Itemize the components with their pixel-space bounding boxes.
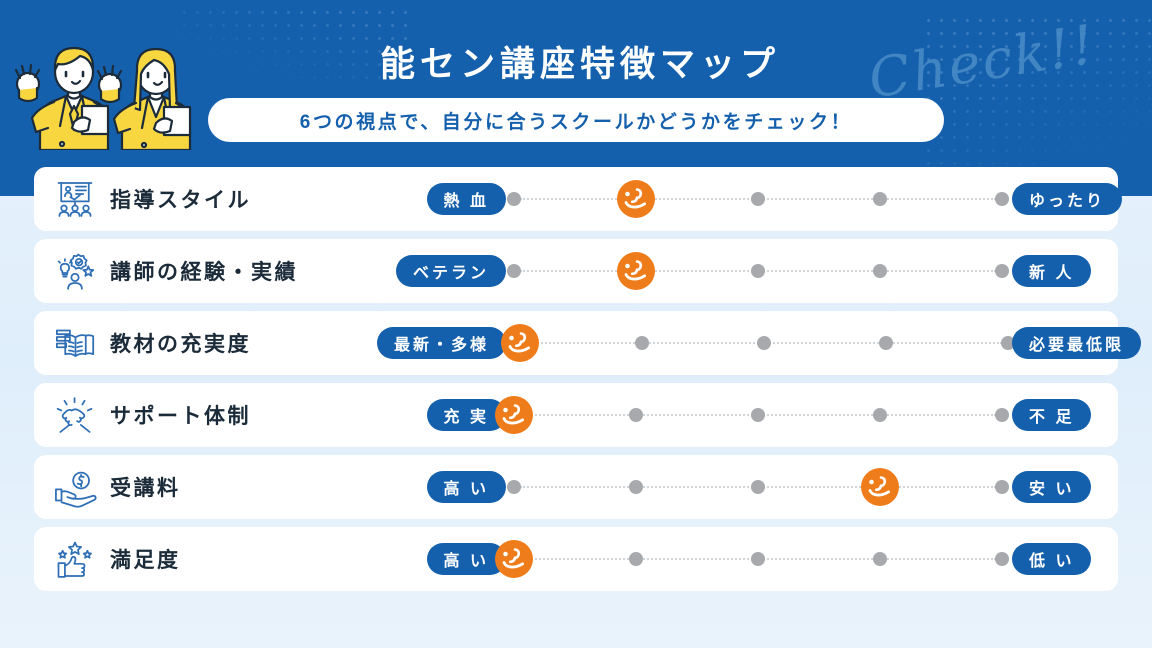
scale-dot[interactable] [873,408,887,422]
feature-row: 指導スタイル熱 血 ゆったり [34,167,1118,231]
smiley-face-icon[interactable] [861,468,899,506]
scale-dot[interactable] [629,480,643,494]
feature-row: 講師の経験・実績ベテラン 新 人 [34,239,1118,303]
presentation-classroom-icon [48,176,102,222]
scale-dot[interactable] [995,408,1009,422]
scale-dot[interactable] [757,336,771,350]
right-badge-slot: ゆったり [1012,167,1152,231]
left-badge-slot: 高 い [374,455,506,519]
feature-row: 受講料高 い 安 い [34,455,1118,519]
feature-row-label: 講師の経験・実績 [110,256,298,286]
smiley-face-icon[interactable] [617,252,655,290]
scale-dot[interactable] [629,408,643,422]
right-badge-slot: 新 人 [1012,239,1152,303]
feature-row: 教材の充実度最新・多様 必要最低限 [34,311,1118,375]
page-title: 能セン講座特徴マップ [330,36,830,87]
feature-row-label: サポート体制 [110,400,251,430]
two-staff-ok-gesture-illustration [4,22,204,150]
right-badge-slot: 低 い [1012,527,1152,591]
rating-scale[interactable] [514,167,1002,231]
scale-dot[interactable] [507,192,521,206]
scale-dot[interactable] [879,336,893,350]
rating-scale[interactable] [514,383,1002,447]
scale-dot[interactable] [995,192,1009,206]
scale-dot[interactable] [873,192,887,206]
feature-row-label: 指導スタイル [110,184,251,214]
smiley-face-icon[interactable] [495,540,533,578]
left-badge-slot: ベテラン [374,239,506,303]
left-badge-slot: 充 実 [374,383,506,447]
feature-map-rows: 指導スタイル熱 血 ゆったり 講師の経験・実績ベテラン 新 人 教材の充実度最新… [34,167,1118,599]
scale-dot[interactable] [751,408,765,422]
scale-dot[interactable] [507,480,521,494]
feature-row: サポート体制充 実 不 足 [34,383,1118,447]
left-scale-badge: 熱 血 [427,183,506,215]
books-open-book-icon [48,320,102,366]
feature-row: 満足度高 い 低 い [34,527,1118,591]
smiley-face-icon[interactable] [495,396,533,434]
scale-dot[interactable] [751,192,765,206]
rating-scale[interactable] [514,239,1002,303]
smiley-face-icon[interactable] [501,324,539,362]
scale-dot[interactable] [873,264,887,278]
right-badge-slot: 不 足 [1012,383,1152,447]
scale-dot[interactable] [995,552,1009,566]
right-badge-slot: 必要最低限 [1012,311,1152,375]
right-scale-badge: 新 人 [1012,255,1091,287]
feature-row-label: 満足度 [110,544,181,574]
smiley-face-icon[interactable] [617,180,655,218]
left-scale-badge: ベテラン [396,255,506,287]
right-scale-badge: 必要最低限 [1012,327,1141,359]
feature-row-label: 教材の充実度 [110,328,251,358]
scale-dot[interactable] [635,336,649,350]
right-scale-badge: 不 足 [1012,399,1091,431]
lightbulb-award-person-icon [48,248,102,294]
scale-dot[interactable] [629,552,643,566]
rating-scale[interactable] [514,455,1002,519]
handshake-support-icon [48,392,102,438]
left-badge-slot: 最新・多様 [374,311,506,375]
scale-dot[interactable] [995,264,1009,278]
thumbs-up-stars-icon [48,536,102,582]
right-scale-badge: 安 い [1012,471,1091,503]
left-scale-badge: 高 い [427,471,506,503]
subtitle-text: 6つの視点で、自分に合うスクールかどうかをチェック！ [300,107,852,134]
scale-dot[interactable] [751,552,765,566]
left-badge-slot: 高 い [374,527,506,591]
scale-dot[interactable] [507,264,521,278]
feature-row-label: 受講料 [110,472,181,502]
scale-dot[interactable] [751,264,765,278]
left-scale-badge: 最新・多様 [377,327,506,359]
hand-holding-coin-icon [48,464,102,510]
scale-dot[interactable] [873,552,887,566]
right-scale-badge: ゆったり [1012,183,1122,215]
right-badge-slot: 安 い [1012,455,1152,519]
left-badge-slot: 熱 血 [374,167,506,231]
subtitle-pill: 6つの視点で、自分に合うスクールかどうかをチェック！ [208,98,944,142]
scale-dot[interactable] [751,480,765,494]
rating-scale[interactable] [520,311,1008,375]
dot-pattern-decoration-right [922,14,1152,174]
rating-scale[interactable] [514,527,1002,591]
right-scale-badge: 低 い [1012,543,1091,575]
scale-dot[interactable] [995,480,1009,494]
